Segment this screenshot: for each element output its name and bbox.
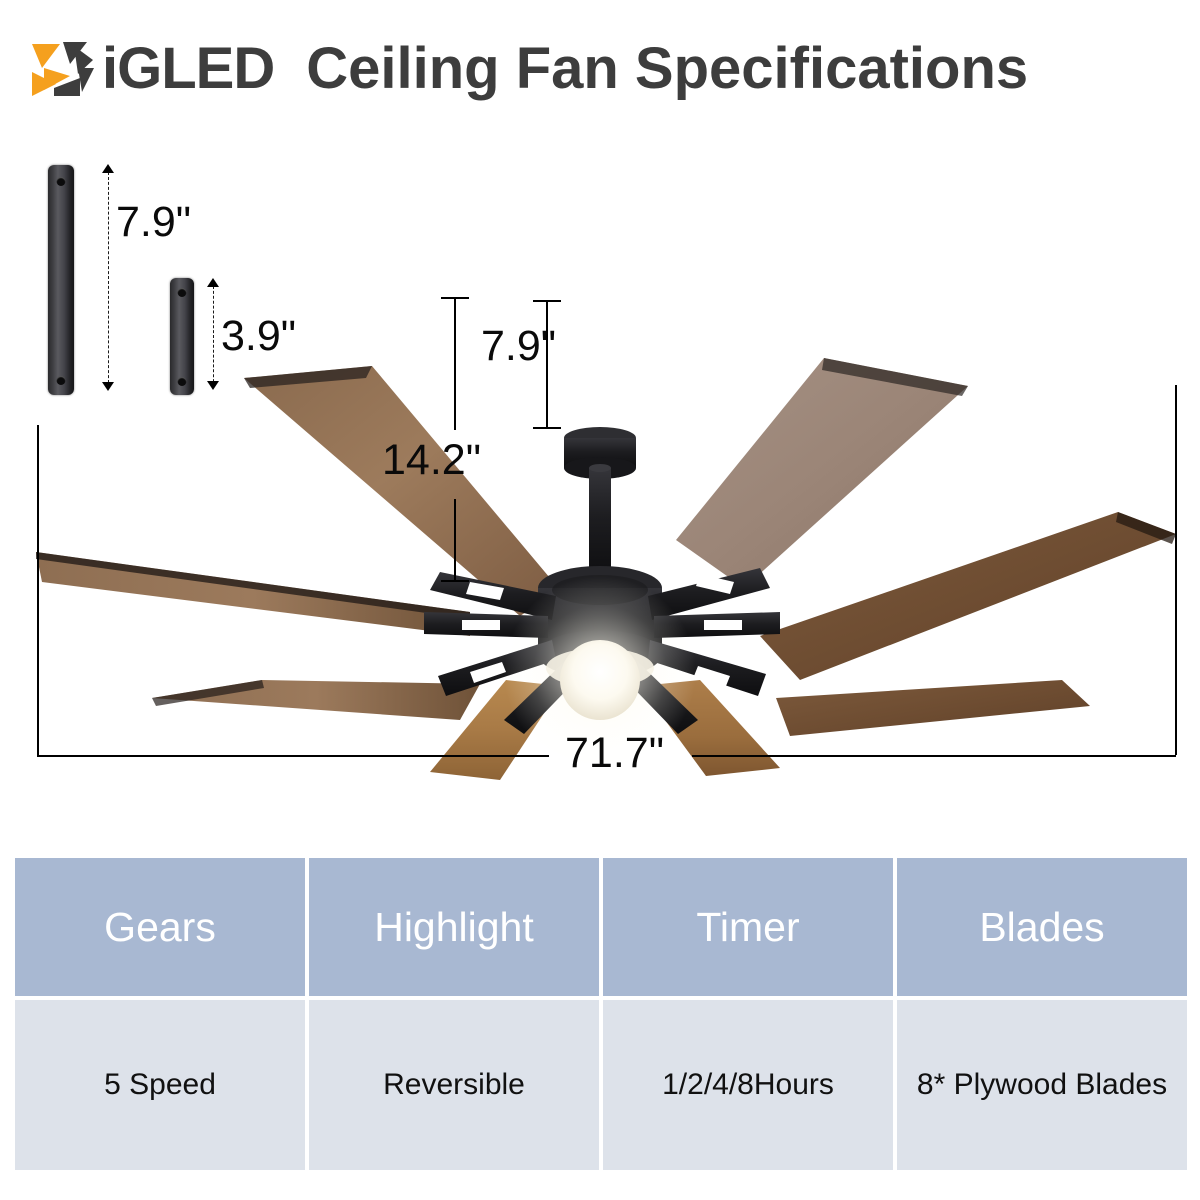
total-height-line-lower bbox=[454, 499, 456, 581]
table-value-timer: 1/2/4/8Hours bbox=[603, 1000, 893, 1170]
drop-dim-cap-bottom bbox=[533, 427, 561, 429]
span-extension-right bbox=[1175, 385, 1177, 755]
total-height-cap-bottom bbox=[441, 580, 469, 582]
page-title: Ceiling Fan Specifications bbox=[306, 40, 1028, 98]
ceiling-fan-illustration bbox=[0, 120, 1200, 820]
brand-wordmark: iGLED bbox=[102, 40, 274, 98]
span-extension-left bbox=[37, 425, 39, 755]
table-header-blades: Blades bbox=[897, 858, 1187, 996]
total-height-dimension-label: 14.2" bbox=[382, 439, 481, 482]
table-header-gears: Gears bbox=[15, 858, 305, 996]
span-dim-line-left bbox=[37, 755, 549, 757]
blade-span-dimension-label: 71.7" bbox=[565, 732, 664, 775]
drop-height-dimension-label: 7.9" bbox=[481, 325, 556, 368]
total-height-line-upper bbox=[454, 297, 456, 430]
header: iGLED Ceiling Fan Specifications bbox=[0, 24, 1200, 114]
fan-blade-upper-right bbox=[676, 358, 968, 588]
product-spec-page: iGLED Ceiling Fan Specifications 7.9" 3.… bbox=[0, 0, 1200, 1200]
fan-blade-right-upper bbox=[760, 512, 1176, 680]
fan-diagram: 7.9" 3.9" bbox=[0, 120, 1200, 820]
fan-blade-right-lower bbox=[776, 680, 1090, 736]
downrod-installed bbox=[589, 464, 611, 578]
aperture-logo-icon bbox=[30, 38, 100, 100]
specification-table: Gears Highlight Timer Blades 5 Speed Rev… bbox=[15, 858, 1187, 1170]
table-row: 5 Speed Reversible 1/2/4/8Hours 8* Plywo… bbox=[15, 1000, 1187, 1170]
fan-blade-lower-left bbox=[152, 680, 480, 720]
table-header-timer: Timer bbox=[603, 858, 893, 996]
table-value-blades: 8* Plywood Blades bbox=[897, 1000, 1187, 1170]
span-dim-line-right bbox=[692, 755, 1176, 757]
fan-blade-left bbox=[36, 552, 470, 636]
table-header-highlight: Highlight bbox=[309, 858, 599, 996]
table-value-highlight: Reversible bbox=[309, 1000, 599, 1170]
table-value-gears: 5 Speed bbox=[15, 1000, 305, 1170]
fan-blade-upper-left bbox=[244, 366, 560, 616]
table-header-row: Gears Highlight Timer Blades bbox=[15, 858, 1187, 996]
